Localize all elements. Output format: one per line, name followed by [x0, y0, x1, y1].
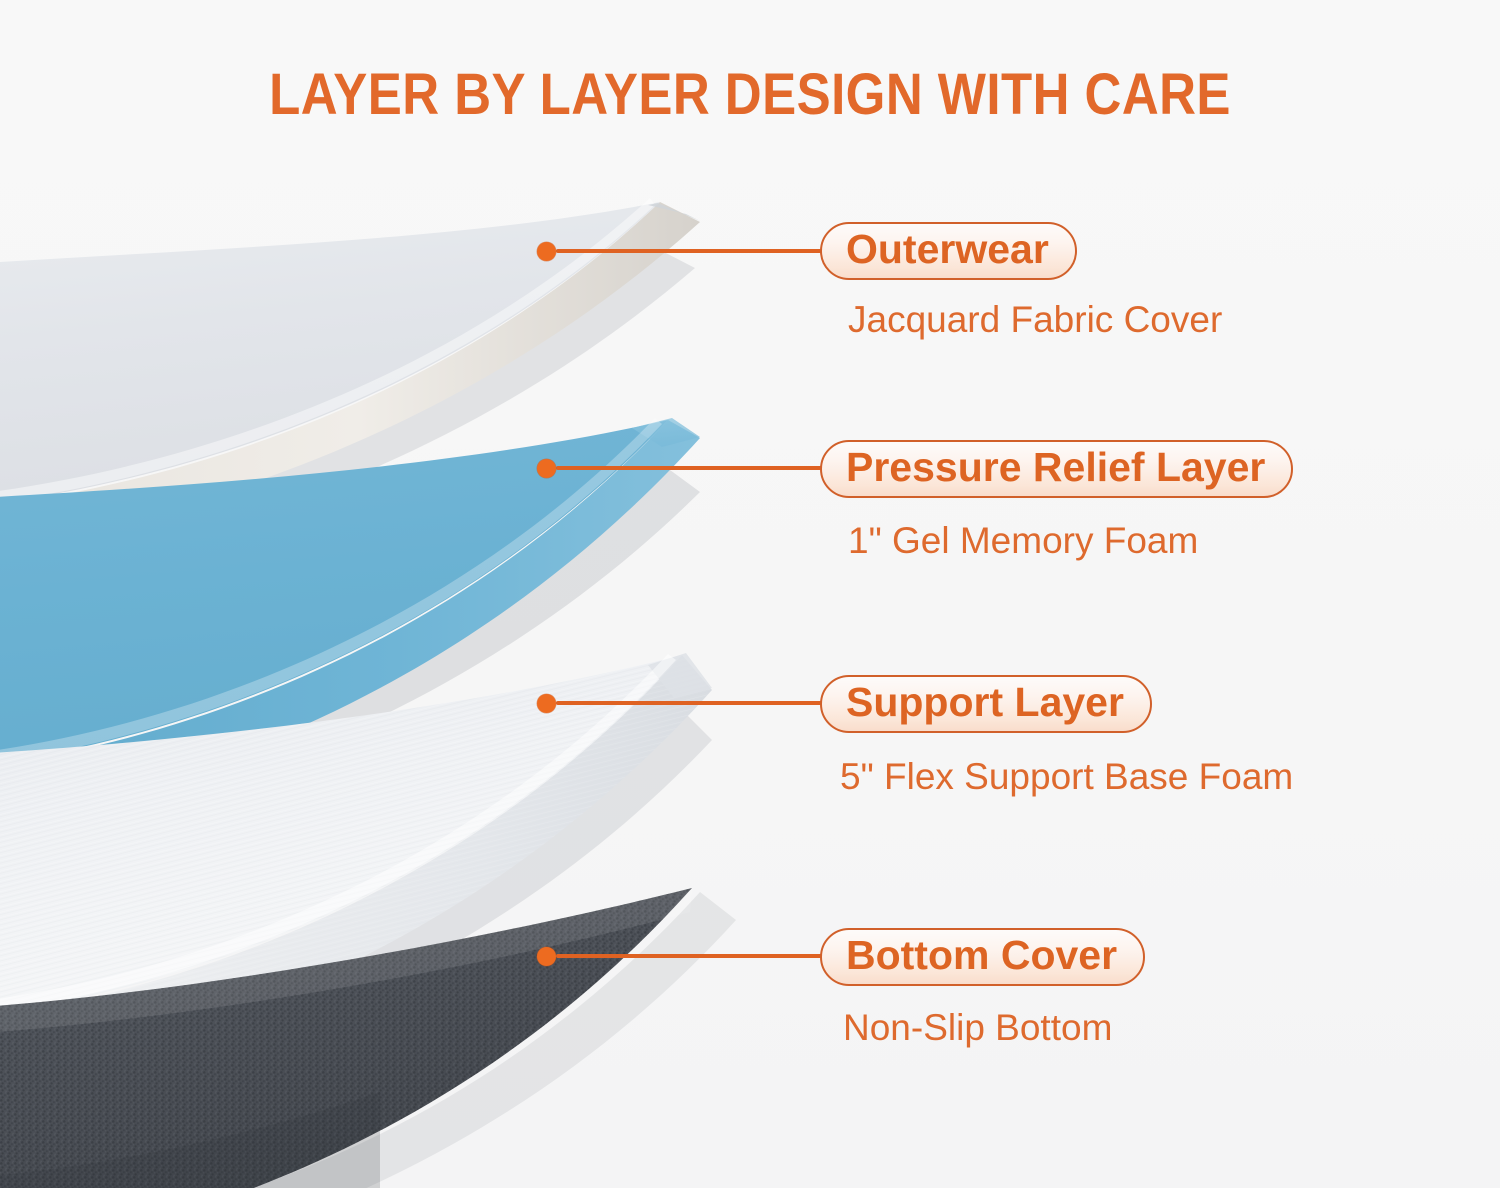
layer-description-bottom-cover: Non-Slip Bottom	[843, 1006, 1112, 1050]
leader-line-bottom-cover	[556, 954, 824, 958]
layer-label-outerwear[interactable]: Outerwear	[820, 222, 1077, 280]
layer-shape-support	[0, 653, 712, 1108]
layer-label-pressure-relief[interactable]: Pressure Relief Layer	[820, 440, 1293, 498]
callout-dot-bottom-cover	[537, 947, 556, 966]
callout-dot-pressure-relief	[537, 459, 556, 478]
layer-description-outerwear: Jacquard Fabric Cover	[848, 298, 1222, 342]
mattress-layer-illustration	[0, 0, 1500, 1188]
layer-description-support: 5" Flex Support Base Foam	[840, 755, 1293, 799]
leader-line-support	[556, 701, 824, 705]
layer-label-bottom-cover[interactable]: Bottom Cover	[820, 928, 1145, 986]
layer-label-support[interactable]: Support Layer	[820, 675, 1152, 733]
layer-shape-bottom-cover	[0, 888, 736, 1188]
leader-line-outerwear	[556, 249, 824, 253]
leader-line-pressure-relief	[556, 466, 824, 470]
callout-dot-support	[537, 694, 556, 713]
layer-shape-pressure-relief	[0, 418, 700, 842]
callout-dot-outerwear	[537, 242, 556, 261]
layer-shape-outerwear	[0, 198, 700, 580]
page-title: LAYER BY LAYER DESIGN WITH CARE	[90, 62, 1410, 128]
layer-description-pressure-relief: 1" Gel Memory Foam	[848, 519, 1198, 563]
diagram-canvas: LAYER BY LAYER DESIGN WITH CARE	[0, 0, 1500, 1188]
